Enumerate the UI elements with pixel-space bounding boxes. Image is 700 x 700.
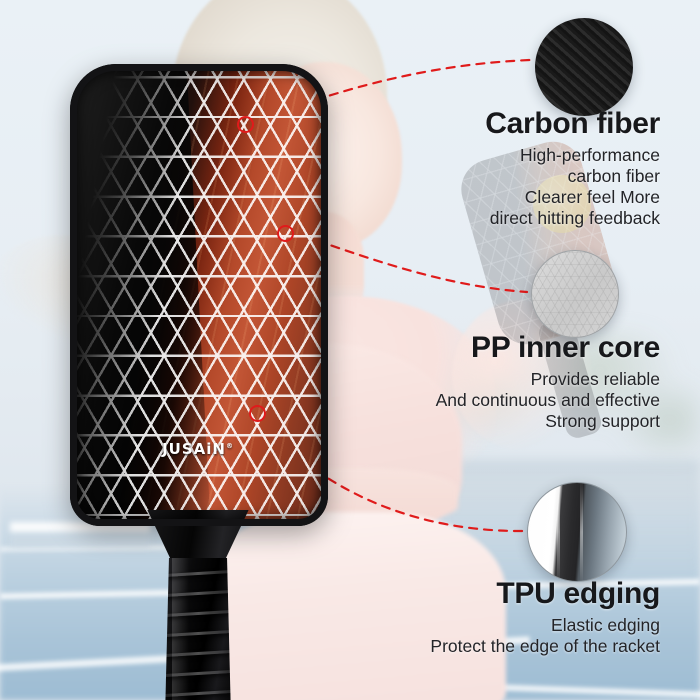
feature-line: High-performance xyxy=(300,145,660,166)
marker-pp-core[interactable] xyxy=(277,225,294,242)
carbon-fiber-swatch xyxy=(535,18,633,116)
tpu-seam xyxy=(580,482,583,582)
paddle-neck xyxy=(143,510,253,566)
feature-tpu-edging: TPU edging Elastic edging Protect the ed… xyxy=(290,578,660,657)
marker-carbon-fiber[interactable] xyxy=(237,116,254,133)
tpu-seam xyxy=(557,482,560,582)
feature-carbon-fiber: Carbon fiber High-performance carbon fib… xyxy=(300,108,660,229)
marker-tpu-edging[interactable] xyxy=(249,405,266,422)
feature-line: And continuous and effective xyxy=(280,390,660,411)
grip-sheen xyxy=(172,558,189,700)
tpu-edging-swatch xyxy=(527,482,627,582)
feature-line: Provides reliable xyxy=(280,369,660,390)
feature-pp-inner-core: PP inner core Provides reliable And cont… xyxy=(280,332,660,432)
feature-line: Clearer feel More xyxy=(300,187,660,208)
brand-trademark: ® xyxy=(226,442,234,450)
infographic-canvas: JUSAiN® Carbon fiber High-performance ca… xyxy=(0,0,700,700)
pp-core-swatch xyxy=(531,250,619,338)
brand-logo: JUSAiN® xyxy=(162,440,234,458)
feature-title: PP inner core xyxy=(280,332,660,364)
feature-line: Elastic edging xyxy=(290,615,660,636)
feature-title: TPU edging xyxy=(290,578,660,610)
feature-line: Strong support xyxy=(280,411,660,432)
brand-logo-text: JUSAiN xyxy=(162,440,226,458)
feature-title: Carbon fiber xyxy=(300,108,660,140)
feature-line: Protect the edge of the racket xyxy=(290,636,660,657)
feature-line: direct hitting feedback xyxy=(300,208,660,229)
paddle-handle[interactable] xyxy=(165,558,231,700)
feature-line: carbon fiber xyxy=(300,166,660,187)
